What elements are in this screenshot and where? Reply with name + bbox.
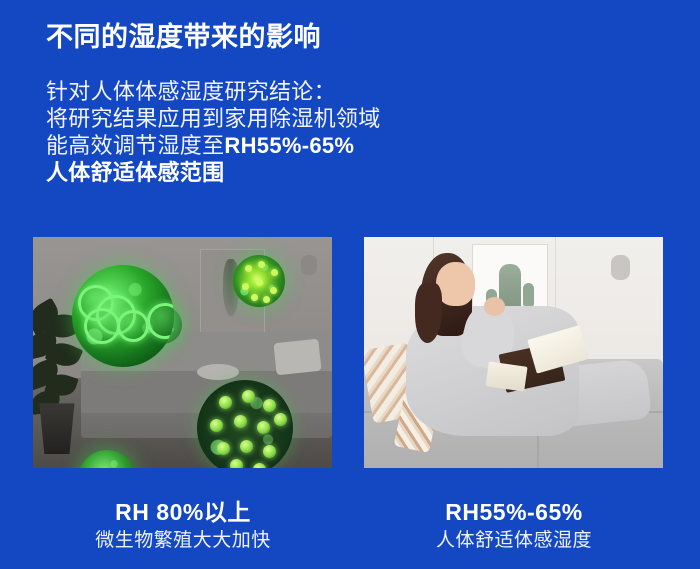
humidity-effects-poster: 不同的湿度带来的影响 针对人体体感湿度研究结论： 将研究结果应用到家用除湿机领域…	[0, 0, 700, 569]
body-line-3-text: 能高效调节湿度至	[46, 133, 224, 158]
body-line-3-highlight: RH55%-65%	[224, 133, 354, 158]
body-line-2: 将研究结果应用到家用除湿机领域	[46, 105, 506, 132]
body-line-1: 针对人体体感湿度研究结论：	[46, 78, 506, 105]
caption-right: RH55%-65% 人体舒适体感湿度	[364, 497, 664, 554]
page-title: 不同的湿度带来的影响	[46, 19, 321, 55]
woman-hand	[484, 297, 505, 315]
body-line-4: 人体舒适体感范围	[46, 159, 506, 186]
microbe-sphere-large	[72, 265, 174, 367]
caption-right-headline: RH55%-65%	[364, 497, 664, 527]
photo-panel-right	[364, 237, 663, 468]
caption-left-headline: RH 80%以上	[33, 497, 333, 527]
dim-sofa-cushion	[274, 339, 322, 376]
woman-reading-photo	[364, 237, 663, 468]
body-copy: 针对人体体感湿度研究结论： 将研究结果应用到家用除湿机领域 能高效调节湿度至RH…	[46, 78, 506, 186]
microbe-room-photo	[33, 237, 332, 468]
wall-sconce-icon	[611, 255, 630, 280]
photo-panel-left	[33, 237, 332, 468]
microbe-sphere-bottom	[197, 380, 293, 468]
microbe-sphere-corner	[78, 450, 136, 468]
wall-lamp-icon	[301, 255, 317, 275]
caption-left: RH 80%以上 微生物繁殖大大加快	[33, 497, 333, 554]
body-line-3: 能高效调节湿度至RH55%-65%	[46, 132, 506, 159]
caption-left-subtext: 微生物繁殖大大加快	[33, 527, 333, 554]
microbe-sphere-top-right	[233, 255, 285, 307]
caption-right-subtext: 人体舒适体感湿度	[364, 527, 664, 554]
